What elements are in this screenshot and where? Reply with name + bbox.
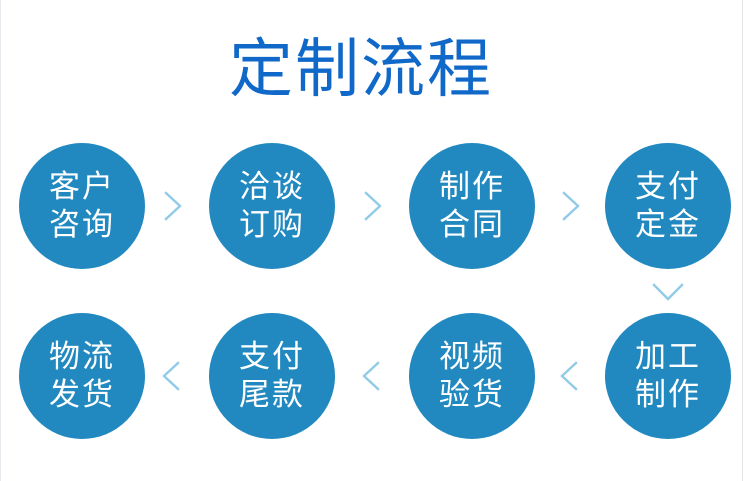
- flow-node-customer-inquiry[interactable]: 客户 咨询: [19, 143, 145, 269]
- page-title: 定制流程: [0, 34, 722, 106]
- chevron-right-icon: [551, 187, 589, 225]
- chevron-left-icon: [551, 357, 589, 395]
- flow-node-line-2: 合同: [439, 206, 505, 244]
- flow-node-line-1: 视频: [439, 338, 505, 376]
- custom-process-infographic: 定制流程 客户 咨询 洽谈 订购 制作 合同: [0, 0, 750, 481]
- flow-node-line-1: 客户: [49, 168, 115, 206]
- flow-node-negotiate-order[interactable]: 洽谈 订购: [209, 143, 335, 269]
- flow-node-pay-balance[interactable]: 支付 尾款: [209, 313, 335, 439]
- flow-node-line-1: 支付: [635, 168, 701, 206]
- flow-node-line-2: 验货: [439, 376, 505, 414]
- flow-node-line-1: 洽谈: [239, 168, 305, 206]
- flow-node-processing-making[interactable]: 加工 制作: [605, 313, 731, 439]
- chevron-down-icon: [648, 278, 688, 306]
- flow-node-line-1: 制作: [439, 168, 505, 206]
- flow-node-line-2: 尾款: [239, 376, 305, 414]
- flow-node-pay-deposit[interactable]: 支付 定金: [605, 143, 731, 269]
- flow-node-line-2: 咨询: [49, 206, 115, 244]
- flow-node-line-1: 物流: [49, 338, 115, 376]
- chevron-left-icon: [353, 357, 391, 395]
- flow-node-line-2: 制作: [635, 376, 701, 414]
- chevron-right-icon: [153, 187, 191, 225]
- flow-node-logistics-shipping[interactable]: 物流 发货: [19, 313, 145, 439]
- flow-row-top: 客户 咨询 洽谈 订购 制作 合同 支付 定金: [0, 143, 750, 275]
- chevron-left-icon: [153, 357, 191, 395]
- chevron-right-icon: [353, 187, 391, 225]
- flow-node-make-contract[interactable]: 制作 合同: [409, 143, 535, 269]
- flow-node-line-1: 加工: [635, 338, 701, 376]
- flow-node-line-2: 定金: [635, 206, 701, 244]
- flow-node-line-1: 支付: [239, 338, 305, 376]
- flow-node-line-2: 发货: [49, 376, 115, 414]
- flow-row-bottom: 物流 发货 支付 尾款 视频 验货 加工 制作: [0, 313, 750, 445]
- flow-node-video-inspection[interactable]: 视频 验货: [409, 313, 535, 439]
- flow-node-line-2: 订购: [239, 206, 305, 244]
